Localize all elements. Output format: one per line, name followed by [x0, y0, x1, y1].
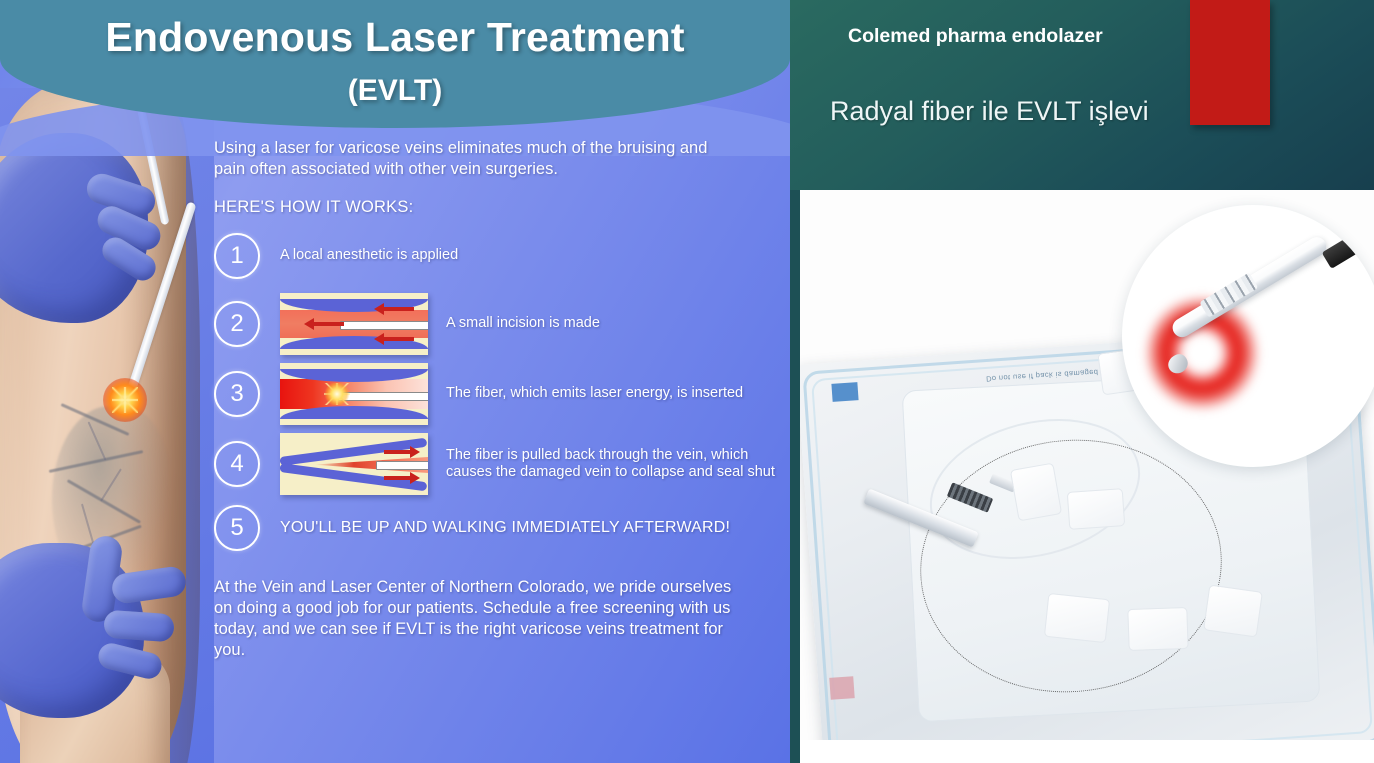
step-number-badge: 5: [214, 505, 260, 551]
flow-arrow: [314, 322, 344, 326]
step-item: 4 The fiber is pulled back through the v…: [214, 433, 780, 495]
headline-label: Radyal fiber ile EVLT işlevi: [830, 96, 1310, 127]
product-header: Colemed pharma endolazer Radyal fiber il…: [790, 0, 1374, 190]
flow-arrow: [384, 337, 414, 341]
leg-treatment-photo: [0, 88, 214, 763]
laser-fiber: [340, 321, 428, 330]
fiber-tip-closeup-inset: [1122, 205, 1374, 467]
page-title: Endovenous Laser Treatment: [0, 14, 790, 61]
step-item: 2 A small incision is made: [214, 293, 780, 355]
vein-diagram-collapsed: [280, 433, 428, 495]
laser-fiber: [376, 461, 428, 470]
step-description: The fiber, which emits laser energy, is …: [446, 385, 743, 403]
step-number-badge: 3: [214, 371, 260, 417]
evlt-infographic-panel: Endovenous Laser Treatment (EVLT) Using …: [0, 0, 790, 763]
product-slide-panel: Colemed pharma endolazer Radyal fiber il…: [790, 0, 1374, 763]
step-item: 5 YOU'LL BE UP AND WALKING IMMEDIATELY A…: [214, 505, 780, 551]
pouch-pad: [1127, 607, 1188, 651]
pink-pouch-label: [829, 676, 854, 700]
infographic-content: Using a laser for varicose veins elimina…: [214, 138, 780, 661]
teal-side-strip: [790, 190, 800, 763]
flow-arrow: [384, 476, 410, 480]
step-number-badge: 2: [214, 301, 260, 347]
step-item: 3 The fiber, which emits laser energy, i…: [214, 363, 780, 425]
probe-black-cap: [1322, 234, 1363, 269]
step-item: 1 A local anesthetic is applied: [214, 233, 780, 279]
flow-arrow: [384, 307, 414, 311]
pouch-pad: [1203, 584, 1263, 637]
how-it-works-label: HERE'S HOW IT WORKS:: [214, 198, 780, 217]
page-subtitle: (EVLT): [0, 74, 790, 108]
step-description: A small incision is made: [446, 315, 600, 333]
vein-diagram-incision: [280, 293, 428, 355]
step-description: The fiber is pulled back through the vei…: [446, 447, 780, 482]
laser-fiber: [338, 392, 428, 401]
step-number-badge: 4: [214, 441, 260, 487]
flow-arrow: [384, 450, 410, 454]
intro-paragraph: Using a laser for varicose veins elimina…: [214, 138, 724, 180]
step-number-badge: 1: [214, 233, 260, 279]
laser-emission-icon: [324, 383, 350, 405]
brand-label: Colemed pharma endolazer: [848, 24, 1168, 48]
step-description: A local anesthetic is applied: [280, 247, 458, 265]
steps-list: 1 A local anesthetic is applied 2: [214, 233, 780, 551]
slide-canvas: Endovenous Laser Treatment (EVLT) Using …: [0, 0, 1374, 763]
footer-paragraph: At the Vein and Laser Center of Northern…: [214, 577, 754, 661]
pouch-pad: [1010, 463, 1062, 522]
vein-diagram-fiber-inserted: [280, 363, 428, 425]
product-photo: Do not use if pack is damaged: [800, 190, 1374, 740]
pouch-pad: [1067, 488, 1126, 530]
laser-spark-icon: [112, 387, 138, 413]
step-description: YOU'LL BE UP AND WALKING IMMEDIATELY AFT…: [280, 519, 730, 537]
glove-finger: [103, 610, 175, 643]
blue-pouch-label: [831, 382, 858, 402]
pouch-pad: [1044, 593, 1110, 643]
